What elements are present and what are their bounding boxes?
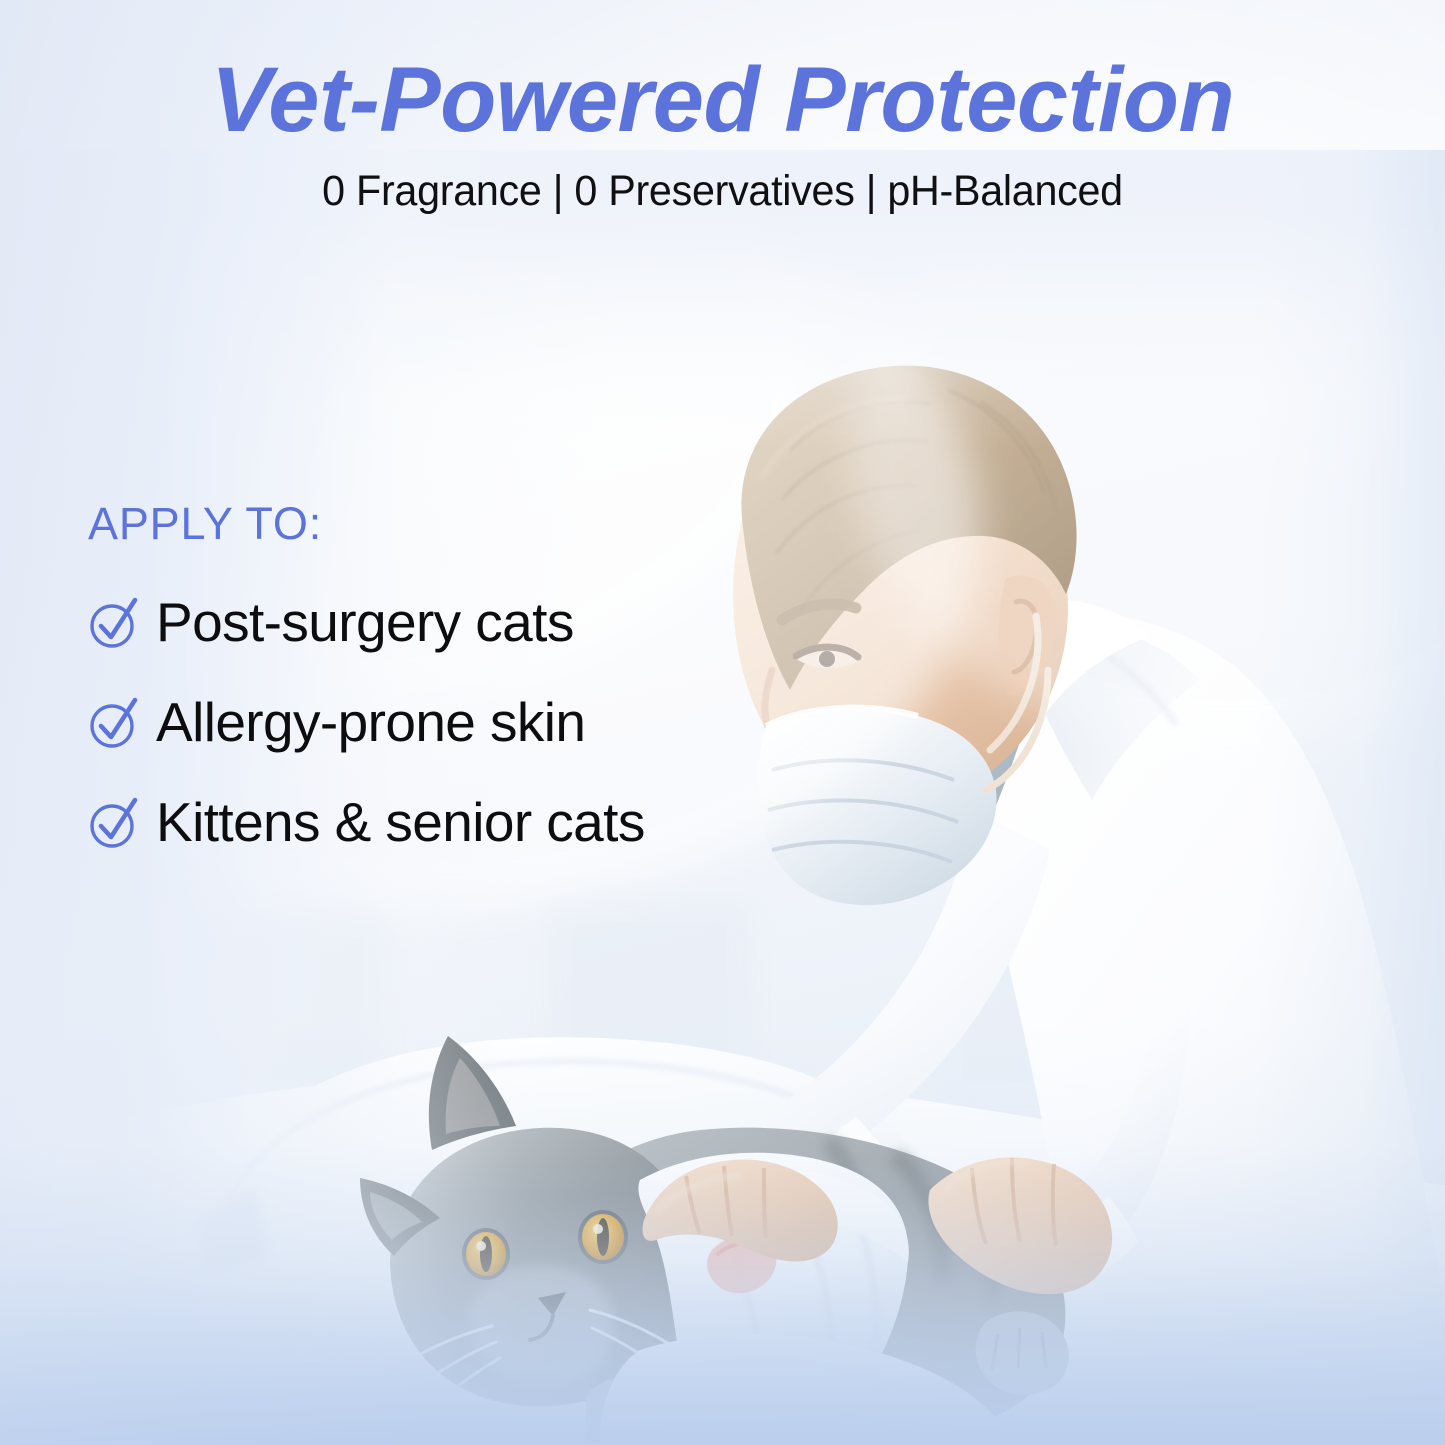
list-item-label: Kittens & senior cats [156, 795, 645, 850]
list-item-label: Post-surgery cats [156, 595, 574, 650]
list-item-label: Allergy-prone skin [156, 695, 585, 750]
list-item: Kittens & senior cats [88, 794, 645, 850]
circle-check-icon [88, 794, 140, 850]
apply-to-list: Post-surgery cats Allergy-prone skin Kit… [88, 594, 645, 850]
page-title: Vet-Powered Protection [0, 52, 1445, 149]
list-item: Allergy-prone skin [88, 694, 645, 750]
apply-to-heading: APPLY TO: [88, 498, 645, 550]
apply-to-section: APPLY TO: Post-surgery cats Allergy-pron… [88, 498, 645, 850]
page-subtitle: 0 Fragrance | 0 Preservatives | pH-Balan… [29, 167, 1416, 216]
header: Vet-Powered Protection 0 Fragrance | 0 P… [0, 52, 1445, 216]
promo-graphic: Vet-Powered Protection 0 Fragrance | 0 P… [0, 0, 1445, 1445]
list-item: Post-surgery cats [88, 594, 645, 650]
circle-check-icon [88, 694, 140, 750]
circle-check-icon [88, 594, 140, 650]
